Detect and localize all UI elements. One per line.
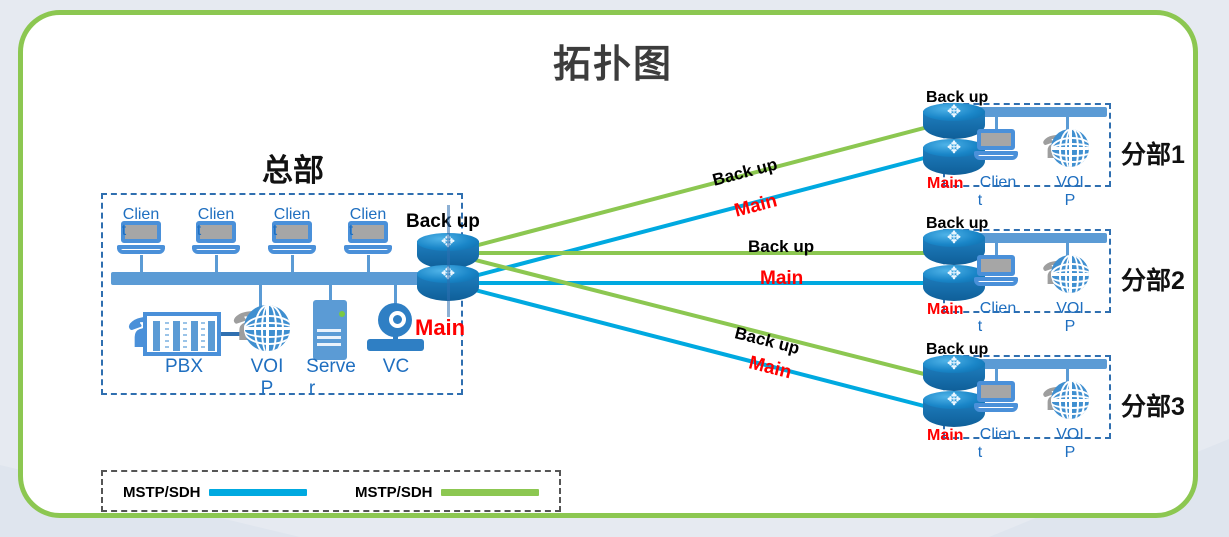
router-icon: ✥	[939, 140, 969, 156]
legend: MSTP/SDH MSTP/SDH	[101, 470, 561, 512]
link-backup-branch3	[448, 253, 928, 375]
client-4-stub	[367, 255, 370, 275]
link-main-branch3-label: Main	[746, 352, 793, 384]
link-backup-branch3-label: Back up	[733, 323, 802, 359]
router-icon: ✥	[939, 266, 969, 282]
branch-2-voip-label-top: VOI	[1042, 301, 1098, 316]
client-3-label-bottom: t	[262, 223, 288, 238]
vc-label-top: VC	[367, 359, 425, 374]
link-main-branch1-label: Main	[732, 190, 779, 222]
branch-3-voip-label-top: VOI	[1042, 427, 1098, 442]
branch-2-voip-label-bottom: P	[1042, 319, 1098, 334]
client-4-label-top: Clien	[338, 207, 398, 222]
pbx-icon	[143, 312, 221, 356]
branch-1-name: 分部1	[1121, 135, 1185, 171]
router-icon: ✥	[939, 104, 969, 120]
legend-item-1-swatch	[209, 489, 307, 496]
branch-2-name: 分部2	[1121, 261, 1185, 297]
vc-stub	[394, 283, 397, 305]
branch-1-voip-label-bottom: P	[1042, 193, 1098, 208]
legend-item-1-label: MSTP/SDH	[123, 484, 201, 501]
branch-2-client-label-top: Clien	[970, 301, 1026, 316]
diagram-card: 拓扑图 总部 Clien t	[18, 10, 1198, 518]
server-label-top: Serve	[300, 359, 362, 374]
hq-router-vertical-dash	[447, 205, 450, 317]
router-icon: ✥	[939, 230, 969, 246]
branch-3-client-label-bottom: t	[970, 445, 990, 460]
branch-3-router-main-label: Main	[927, 427, 963, 445]
branch-2-client-label-bottom: t	[970, 319, 990, 334]
server-label-bottom: r	[300, 381, 324, 396]
legend-item-2-label: MSTP/SDH	[355, 484, 433, 501]
router-icon: ✥	[939, 392, 969, 408]
hq-router-backup-label: Back up	[406, 211, 480, 233]
globe-icon	[1051, 381, 1089, 419]
pbx-label-top: PBX	[149, 359, 219, 374]
branch-3-name: 分部3	[1121, 387, 1185, 423]
topology-diagram-canvas: 拓扑图 总部 Clien t	[0, 0, 1229, 537]
link-main-branch1	[448, 157, 928, 283]
link-main-branch3	[448, 283, 928, 407]
server-stub	[329, 283, 332, 301]
client-1-label-bottom: t	[111, 223, 137, 238]
link-backup-branch1-label: Back up	[710, 155, 779, 191]
server-status-led	[339, 311, 345, 317]
laptop-icon	[977, 381, 1015, 413]
branch-1-router-main-label: Main	[927, 175, 963, 193]
link-backup-branch2-label: Back up	[748, 237, 814, 257]
branch-1-client-label-bottom: t	[970, 193, 990, 208]
globe-icon	[244, 305, 290, 351]
hq-router-main-label: Main	[415, 315, 465, 341]
client-3-label-top: Clien	[262, 207, 322, 222]
link-backup-branch1	[448, 127, 928, 253]
client-1-label-top: Clien	[111, 207, 171, 222]
laptop-icon	[977, 129, 1015, 161]
client-4-label-bottom: t	[338, 223, 364, 238]
headquarters-backbone-bus	[111, 272, 441, 285]
page-title: 拓扑图	[23, 33, 1203, 88]
client-3-stub	[291, 255, 294, 275]
branch-1-voip-label-top: VOI	[1042, 175, 1098, 190]
branch-3-client-label-top: Clien	[970, 427, 1026, 442]
link-main-branch2-label: Main	[760, 268, 803, 290]
client-2-label-top: Clien	[186, 207, 246, 222]
client-1-stub	[140, 255, 143, 275]
globe-icon	[1051, 129, 1089, 167]
webcam-lens-icon	[389, 311, 406, 328]
client-2-stub	[215, 255, 218, 275]
globe-icon	[1051, 255, 1089, 293]
branch-2-router-main-label: Main	[927, 301, 963, 319]
voip-label-bottom: P	[232, 381, 302, 396]
laptop-icon	[977, 255, 1015, 287]
legend-item-2-swatch	[441, 489, 539, 496]
headquarters-title: 总部	[203, 145, 383, 190]
router-icon: ✥	[939, 356, 969, 372]
voip-label-top: VOI	[232, 359, 302, 374]
branch-1-client-label-top: Clien	[970, 175, 1026, 190]
client-2-label-bottom: t	[186, 223, 212, 238]
branch-3-voip-label-bottom: P	[1042, 445, 1098, 460]
